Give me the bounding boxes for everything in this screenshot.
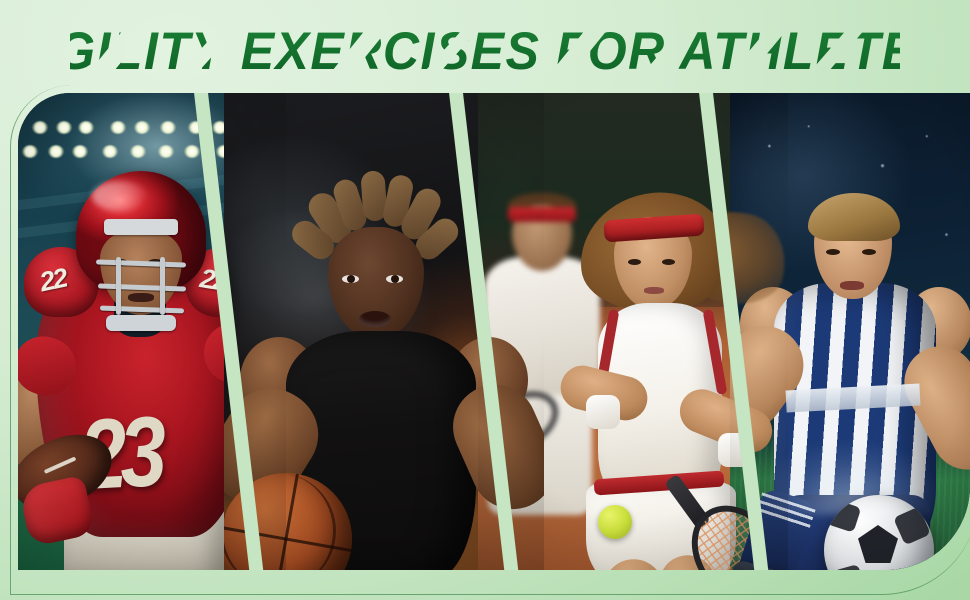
bb-eye-left: [342, 275, 359, 283]
banner-title-area: AGILITY EXERCISES FOR ATHLETES: [0, 18, 970, 80]
helmet-chin-strap: [106, 315, 176, 331]
soccer-eye-right: [862, 249, 876, 255]
tennis-eye-right: [662, 259, 675, 265]
tennis-ball: [598, 505, 632, 539]
bb-mouth: [359, 311, 391, 327]
soccer-eye-left: [826, 249, 840, 255]
svg-text:AGILITY EXERCISES FOR ATHLETES: AGILITY EXERCISES FOR ATHLETES: [70, 20, 900, 78]
tennis-eye-left: [628, 259, 641, 265]
helmet-highlight: [92, 181, 146, 211]
bb-eye-right: [386, 275, 403, 283]
helmet-facemask: [92, 255, 190, 317]
page-title: AGILITY EXERCISES FOR ATHLETES: [70, 20, 900, 78]
soccer-mouth: [840, 281, 864, 290]
sports-photo-strip: 22 22 23: [18, 93, 970, 570]
tennis-mouth: [644, 287, 664, 294]
helmet-front-bar: [104, 219, 178, 235]
wristband-left: [586, 395, 620, 429]
